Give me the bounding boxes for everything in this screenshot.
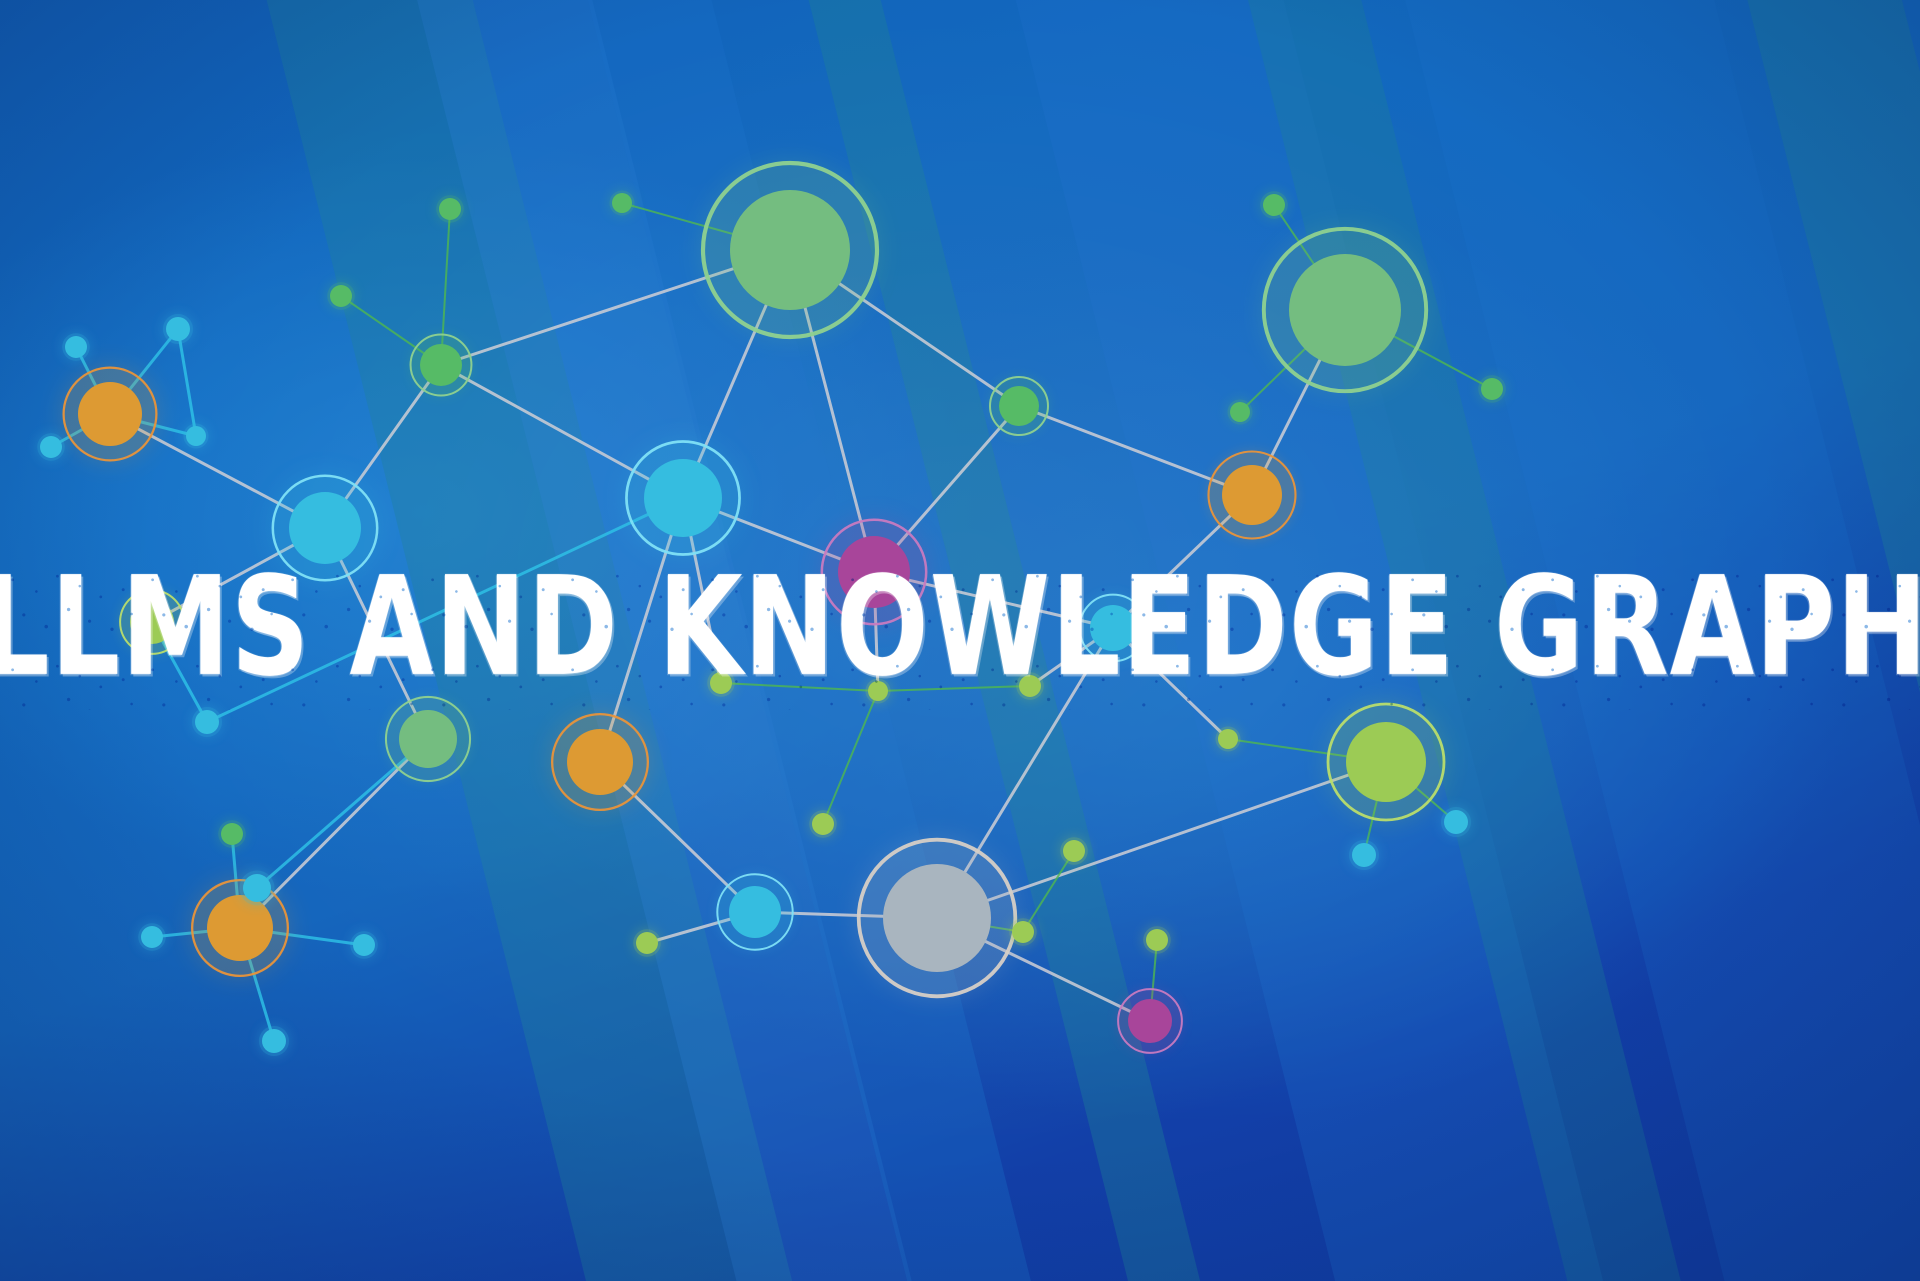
node-tr-small-b bbox=[1228, 400, 1253, 425]
node-small-green-c bbox=[327, 282, 355, 310]
node-bl-cyan-b bbox=[350, 931, 378, 959]
node-core bbox=[1090, 605, 1136, 651]
node-core bbox=[1063, 840, 1085, 862]
node-bottom-lime-b bbox=[1060, 837, 1088, 865]
node-core bbox=[1263, 194, 1285, 216]
node-bottom-small-c bbox=[633, 929, 661, 957]
node-small-lime-d bbox=[1216, 727, 1241, 752]
node-bottom-orange bbox=[192, 880, 288, 976]
node-tr-small-a bbox=[1260, 191, 1288, 219]
graph-edge bbox=[178, 329, 196, 436]
node-core bbox=[1289, 254, 1401, 366]
node-core bbox=[1444, 810, 1468, 834]
node-right-lime-big bbox=[1328, 704, 1444, 820]
node-bottom-cyan bbox=[717, 874, 792, 949]
node-left-orange bbox=[64, 368, 157, 461]
node-core bbox=[1218, 729, 1238, 749]
node-bl-cyan-top bbox=[240, 871, 275, 906]
node-core bbox=[40, 436, 62, 458]
node-bl-cyan-c bbox=[259, 1026, 289, 1056]
node-core bbox=[330, 285, 352, 307]
graph-edge bbox=[823, 691, 878, 824]
node-bottom-magenta bbox=[1118, 989, 1182, 1053]
node-core bbox=[166, 317, 190, 341]
node-right-cyan-a bbox=[1441, 807, 1471, 837]
node-small-lime-a bbox=[707, 669, 735, 697]
node-mid-cyan-small bbox=[192, 707, 222, 737]
node-core bbox=[868, 681, 888, 701]
node-bottom-lime-d bbox=[1143, 926, 1171, 954]
node-core bbox=[1352, 843, 1376, 867]
node-center-cyan-big bbox=[626, 441, 739, 554]
node-left-green-2 bbox=[386, 697, 470, 781]
node-core bbox=[353, 934, 375, 956]
node-center-orange bbox=[552, 714, 648, 810]
node-center-magenta bbox=[822, 520, 926, 624]
node-bottom-lime-a bbox=[809, 810, 837, 838]
node-core bbox=[1146, 929, 1168, 951]
node-left-cyan-a bbox=[62, 333, 90, 361]
node-core bbox=[729, 886, 781, 938]
node-core bbox=[644, 459, 722, 537]
node-right-cyan-mid bbox=[1080, 595, 1147, 662]
node-core bbox=[1481, 378, 1503, 400]
node-core bbox=[141, 926, 163, 948]
node-core bbox=[1230, 402, 1250, 422]
node-core bbox=[883, 864, 991, 972]
node-core bbox=[838, 536, 910, 608]
node-small-lime-c bbox=[1016, 672, 1044, 700]
node-core bbox=[207, 895, 273, 961]
node-left-cyan-d bbox=[184, 424, 209, 449]
node-hub-top bbox=[703, 163, 877, 337]
graph-edge bbox=[721, 683, 878, 691]
node-bl-green-small bbox=[218, 820, 246, 848]
node-mid-green bbox=[411, 335, 472, 396]
node-core bbox=[420, 344, 462, 386]
node-core bbox=[262, 1029, 286, 1053]
node-hub-topright bbox=[1264, 229, 1426, 391]
node-core bbox=[399, 710, 457, 768]
node-left-lime bbox=[120, 590, 184, 654]
node-core bbox=[195, 710, 219, 734]
graph-edge bbox=[1023, 851, 1074, 932]
node-core bbox=[78, 382, 142, 446]
node-small-green-b bbox=[610, 191, 635, 216]
node-right-cyan-b bbox=[1349, 840, 1379, 870]
node-bottom-silver bbox=[859, 840, 1016, 997]
node-right-orange bbox=[1209, 452, 1296, 539]
node-bottom-lime-c bbox=[1009, 918, 1037, 946]
node-left-cyan-c bbox=[37, 433, 65, 461]
node-core bbox=[439, 198, 461, 220]
node-core bbox=[243, 874, 271, 902]
node-core bbox=[710, 672, 732, 694]
node-core bbox=[1222, 465, 1282, 525]
node-small-green-a bbox=[436, 195, 464, 223]
node-core bbox=[999, 386, 1039, 426]
node-core bbox=[636, 932, 658, 954]
title-banner: LLMS AND KNOWLEDGE GRAPHS bbox=[0, 0, 1920, 1281]
node-core bbox=[130, 600, 174, 644]
node-core bbox=[730, 190, 850, 310]
node-core bbox=[289, 492, 361, 564]
node-left-cyan-b bbox=[163, 314, 193, 344]
node-tr-small-c bbox=[1478, 375, 1506, 403]
node-small-lime-b bbox=[866, 679, 891, 704]
node-core bbox=[567, 729, 633, 795]
knowledge-graph-illustration bbox=[0, 0, 1920, 1281]
node-core bbox=[221, 823, 243, 845]
node-right-green bbox=[990, 377, 1048, 435]
node-core bbox=[1346, 722, 1426, 802]
node-core bbox=[1019, 675, 1041, 697]
node-core bbox=[1128, 999, 1172, 1043]
node-core bbox=[65, 336, 87, 358]
node-core bbox=[812, 813, 834, 835]
graph-edge bbox=[878, 686, 1030, 691]
node-core bbox=[612, 193, 632, 213]
node-center-cyan-mid bbox=[273, 476, 377, 580]
node-core bbox=[186, 426, 206, 446]
node-bl-cyan-a bbox=[138, 923, 166, 951]
node-core bbox=[1012, 921, 1034, 943]
graph-nodes bbox=[37, 163, 1506, 1056]
